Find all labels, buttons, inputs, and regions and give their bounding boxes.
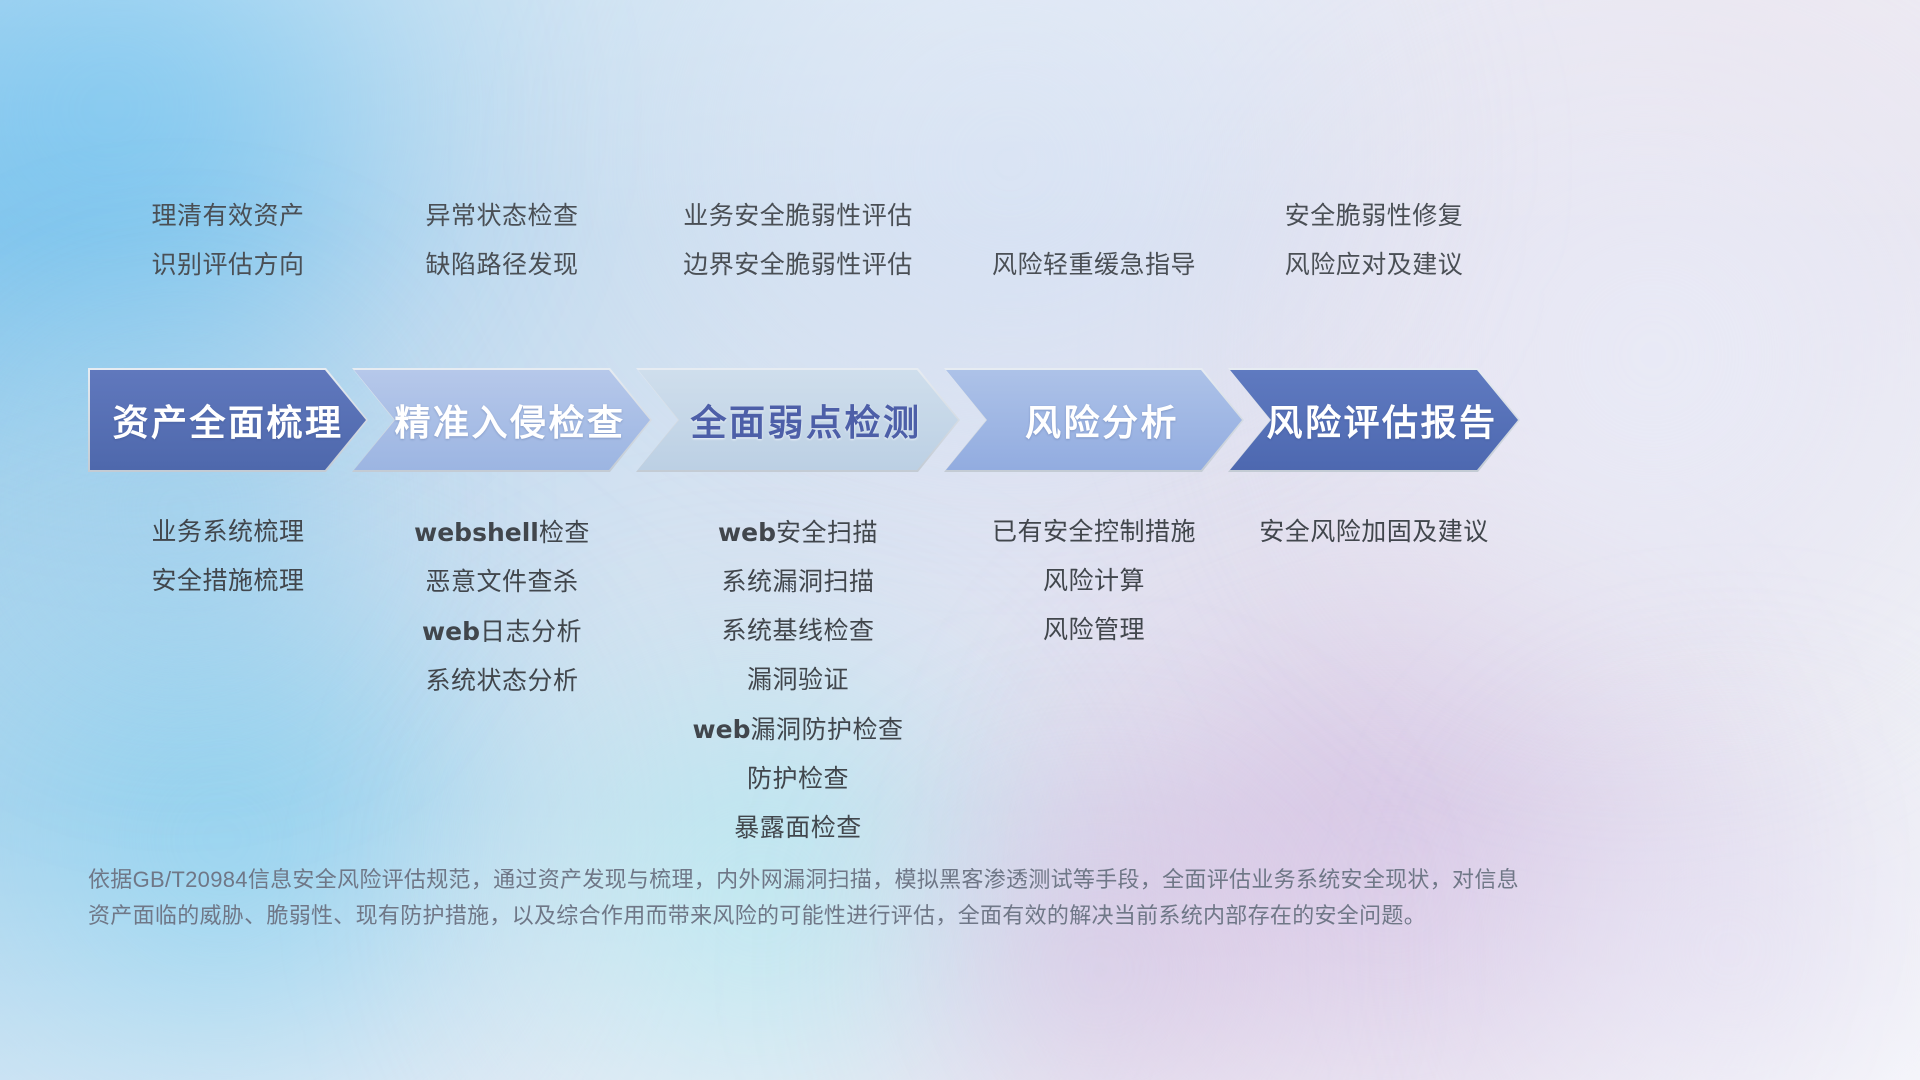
input-item: 风险应对及建议 (1168, 241, 1580, 290)
stage-inputs-5: 安全脆弱性修复风险应对及建议 (1168, 192, 1580, 290)
process-stage-4[interactable]: 风险分析 (944, 368, 1244, 472)
footer-description: 依据GB/T20984信息安全风险评估规范，通过资产发现与梳理，内外网漏洞扫描，… (88, 862, 1748, 934)
task-item-prefix: web (718, 518, 776, 547)
stage-tasks-5: 安全风险加固及建议 (1168, 508, 1580, 557)
stage-label: 全面弱点检测 (690, 394, 921, 446)
task-item-prefix: webshell (414, 518, 539, 547)
footer-line-1: 依据GB/T20984信息安全风险评估规范，通过资产发现与梳理，内外网漏洞扫描，… (88, 862, 1748, 898)
task-item-prefix: web (422, 617, 480, 646)
process-stage-3[interactable]: 全面弱点检测 (636, 368, 960, 472)
task-item-prefix: web (693, 715, 751, 744)
process-stage-2[interactable]: 精准入侵检查 (352, 368, 652, 472)
task-item: 安全风险加固及建议 (1168, 508, 1580, 557)
process-chevron-band: 资产全面梳理精准入侵检查全面弱点检测风险分析风险评估报告 (0, 368, 1920, 472)
task-item-text: 漏洞防护检查 (750, 716, 903, 744)
stage-label: 精准入侵检查 (394, 394, 625, 446)
process-stage-5[interactable]: 风险评估报告 (1228, 368, 1520, 472)
process-stage-1[interactable]: 资产全面梳理 (88, 368, 368, 472)
task-item-text: 日志分析 (480, 618, 582, 646)
footer-line-2: 资产面临的威胁、脆弱性、现有防护措施，以及综合作用而带来风险的可能性进行评估，全… (88, 898, 1748, 934)
stage-label: 资产全面梳理 (112, 394, 343, 446)
stage-label: 风险评估报告 (1266, 394, 1497, 446)
input-item: 安全脆弱性修复 (1168, 192, 1580, 241)
stage-label: 风险分析 (1025, 394, 1179, 446)
task-item-text: 安全扫描 (776, 519, 878, 547)
slide-canvas: 理清有效资产识别评估方向业务系统梳理安全措施梳理异常状态检查缺陷路径发现webs… (0, 0, 1920, 1080)
